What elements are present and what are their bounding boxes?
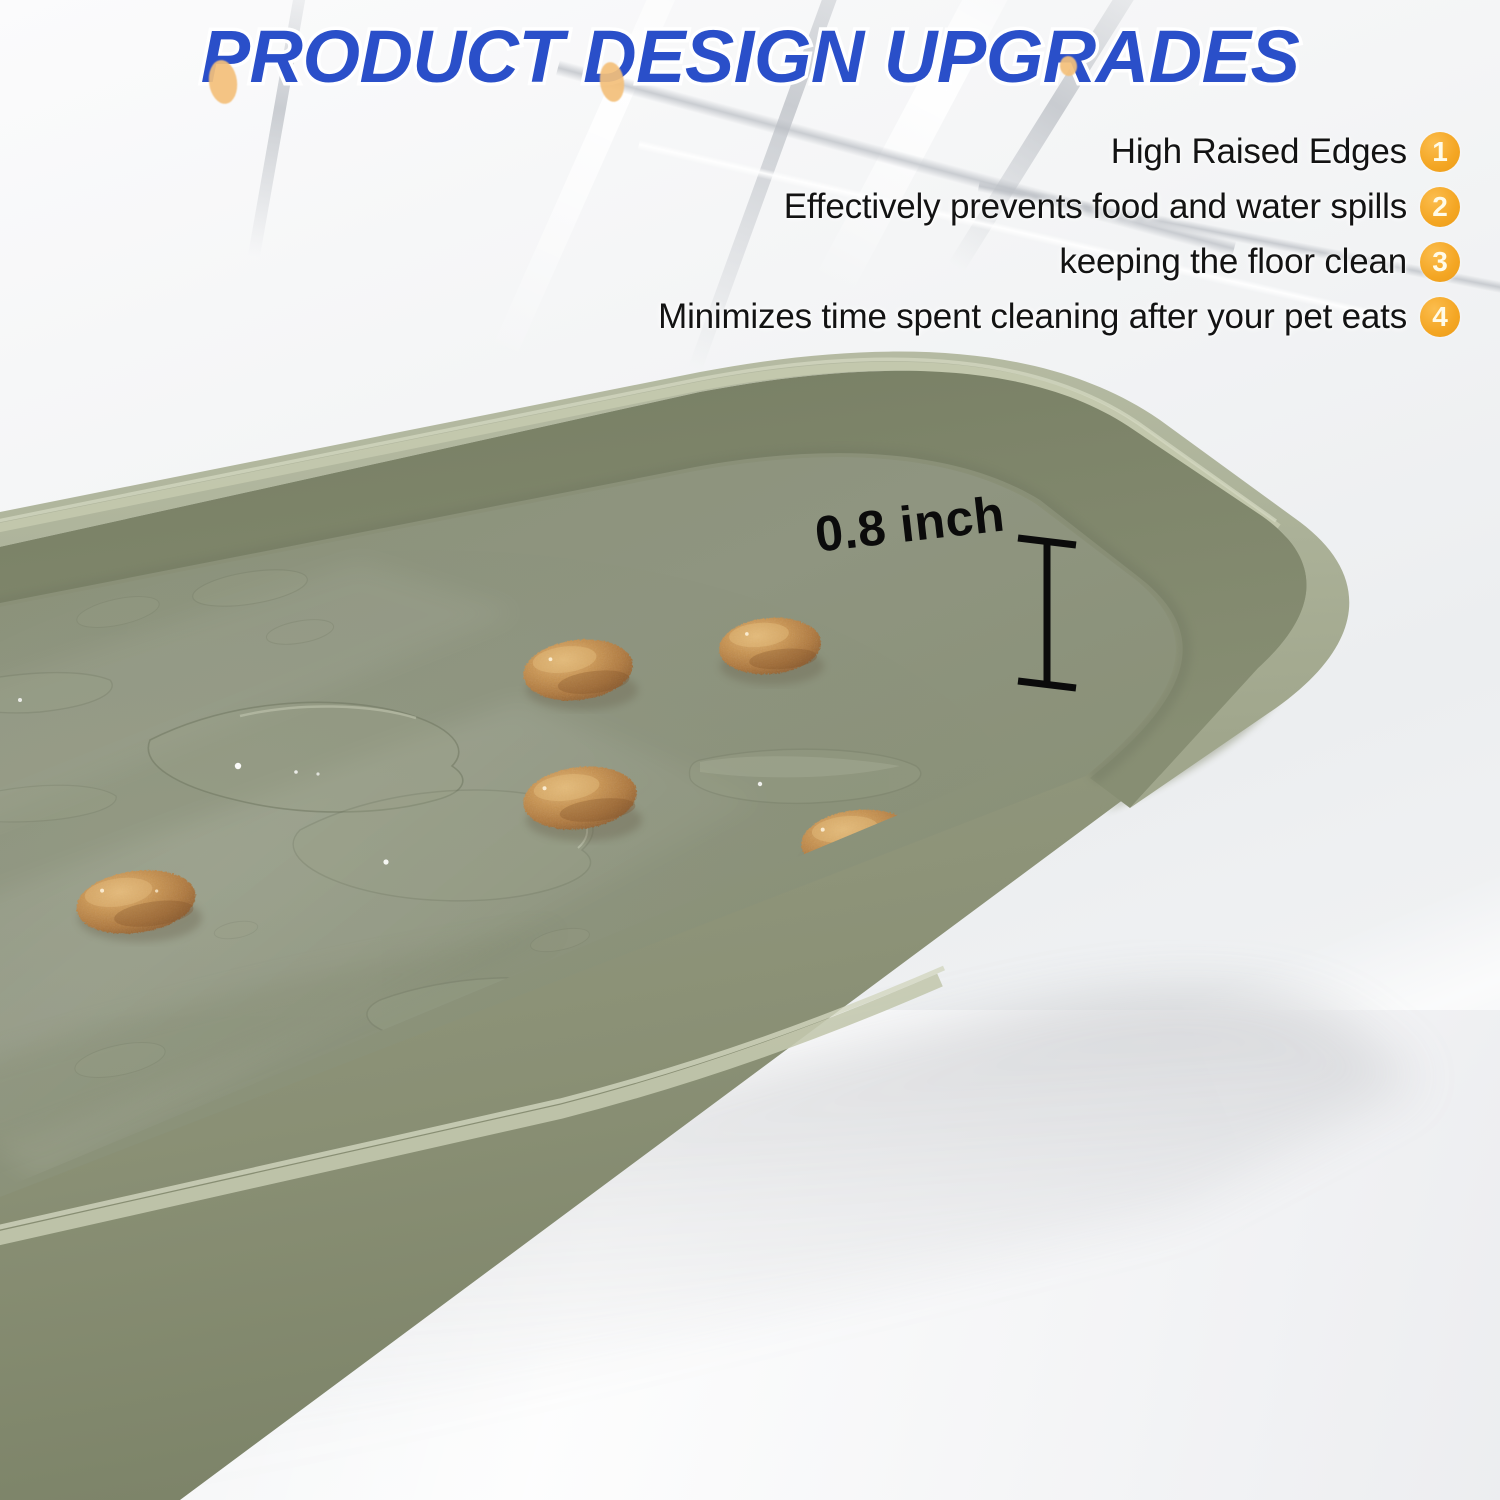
product-marketing-image: PRODUCT DESIGN UPGRADES High Raised Edge… bbox=[0, 0, 1500, 1500]
feature-number-badge: 2 bbox=[1420, 187, 1460, 227]
feature-list: High Raised Edges 1 Effectively prevents… bbox=[500, 126, 1460, 346]
feature-item-2: Effectively prevents food and water spil… bbox=[500, 181, 1460, 233]
feature-item-3: keeping the floor clean 3 bbox=[500, 236, 1460, 288]
feature-label: keeping the floor clean bbox=[1059, 242, 1407, 282]
feature-number-badge: 4 bbox=[1420, 297, 1460, 337]
feature-number-badge: 1 bbox=[1420, 132, 1460, 172]
feature-number-badge: 3 bbox=[1420, 242, 1460, 282]
feature-label: High Raised Edges bbox=[1111, 132, 1407, 172]
feature-item-1: High Raised Edges 1 bbox=[500, 126, 1460, 178]
feature-label: Effectively prevents food and water spil… bbox=[784, 187, 1407, 227]
page-title-text: PRODUCT DESIGN UPGRADES bbox=[201, 14, 1300, 99]
feature-label: Minimizes time spent cleaning after your… bbox=[658, 297, 1407, 337]
page-title: PRODUCT DESIGN UPGRADES bbox=[0, 14, 1500, 99]
feature-item-4: Minimizes time spent cleaning after your… bbox=[500, 291, 1460, 343]
